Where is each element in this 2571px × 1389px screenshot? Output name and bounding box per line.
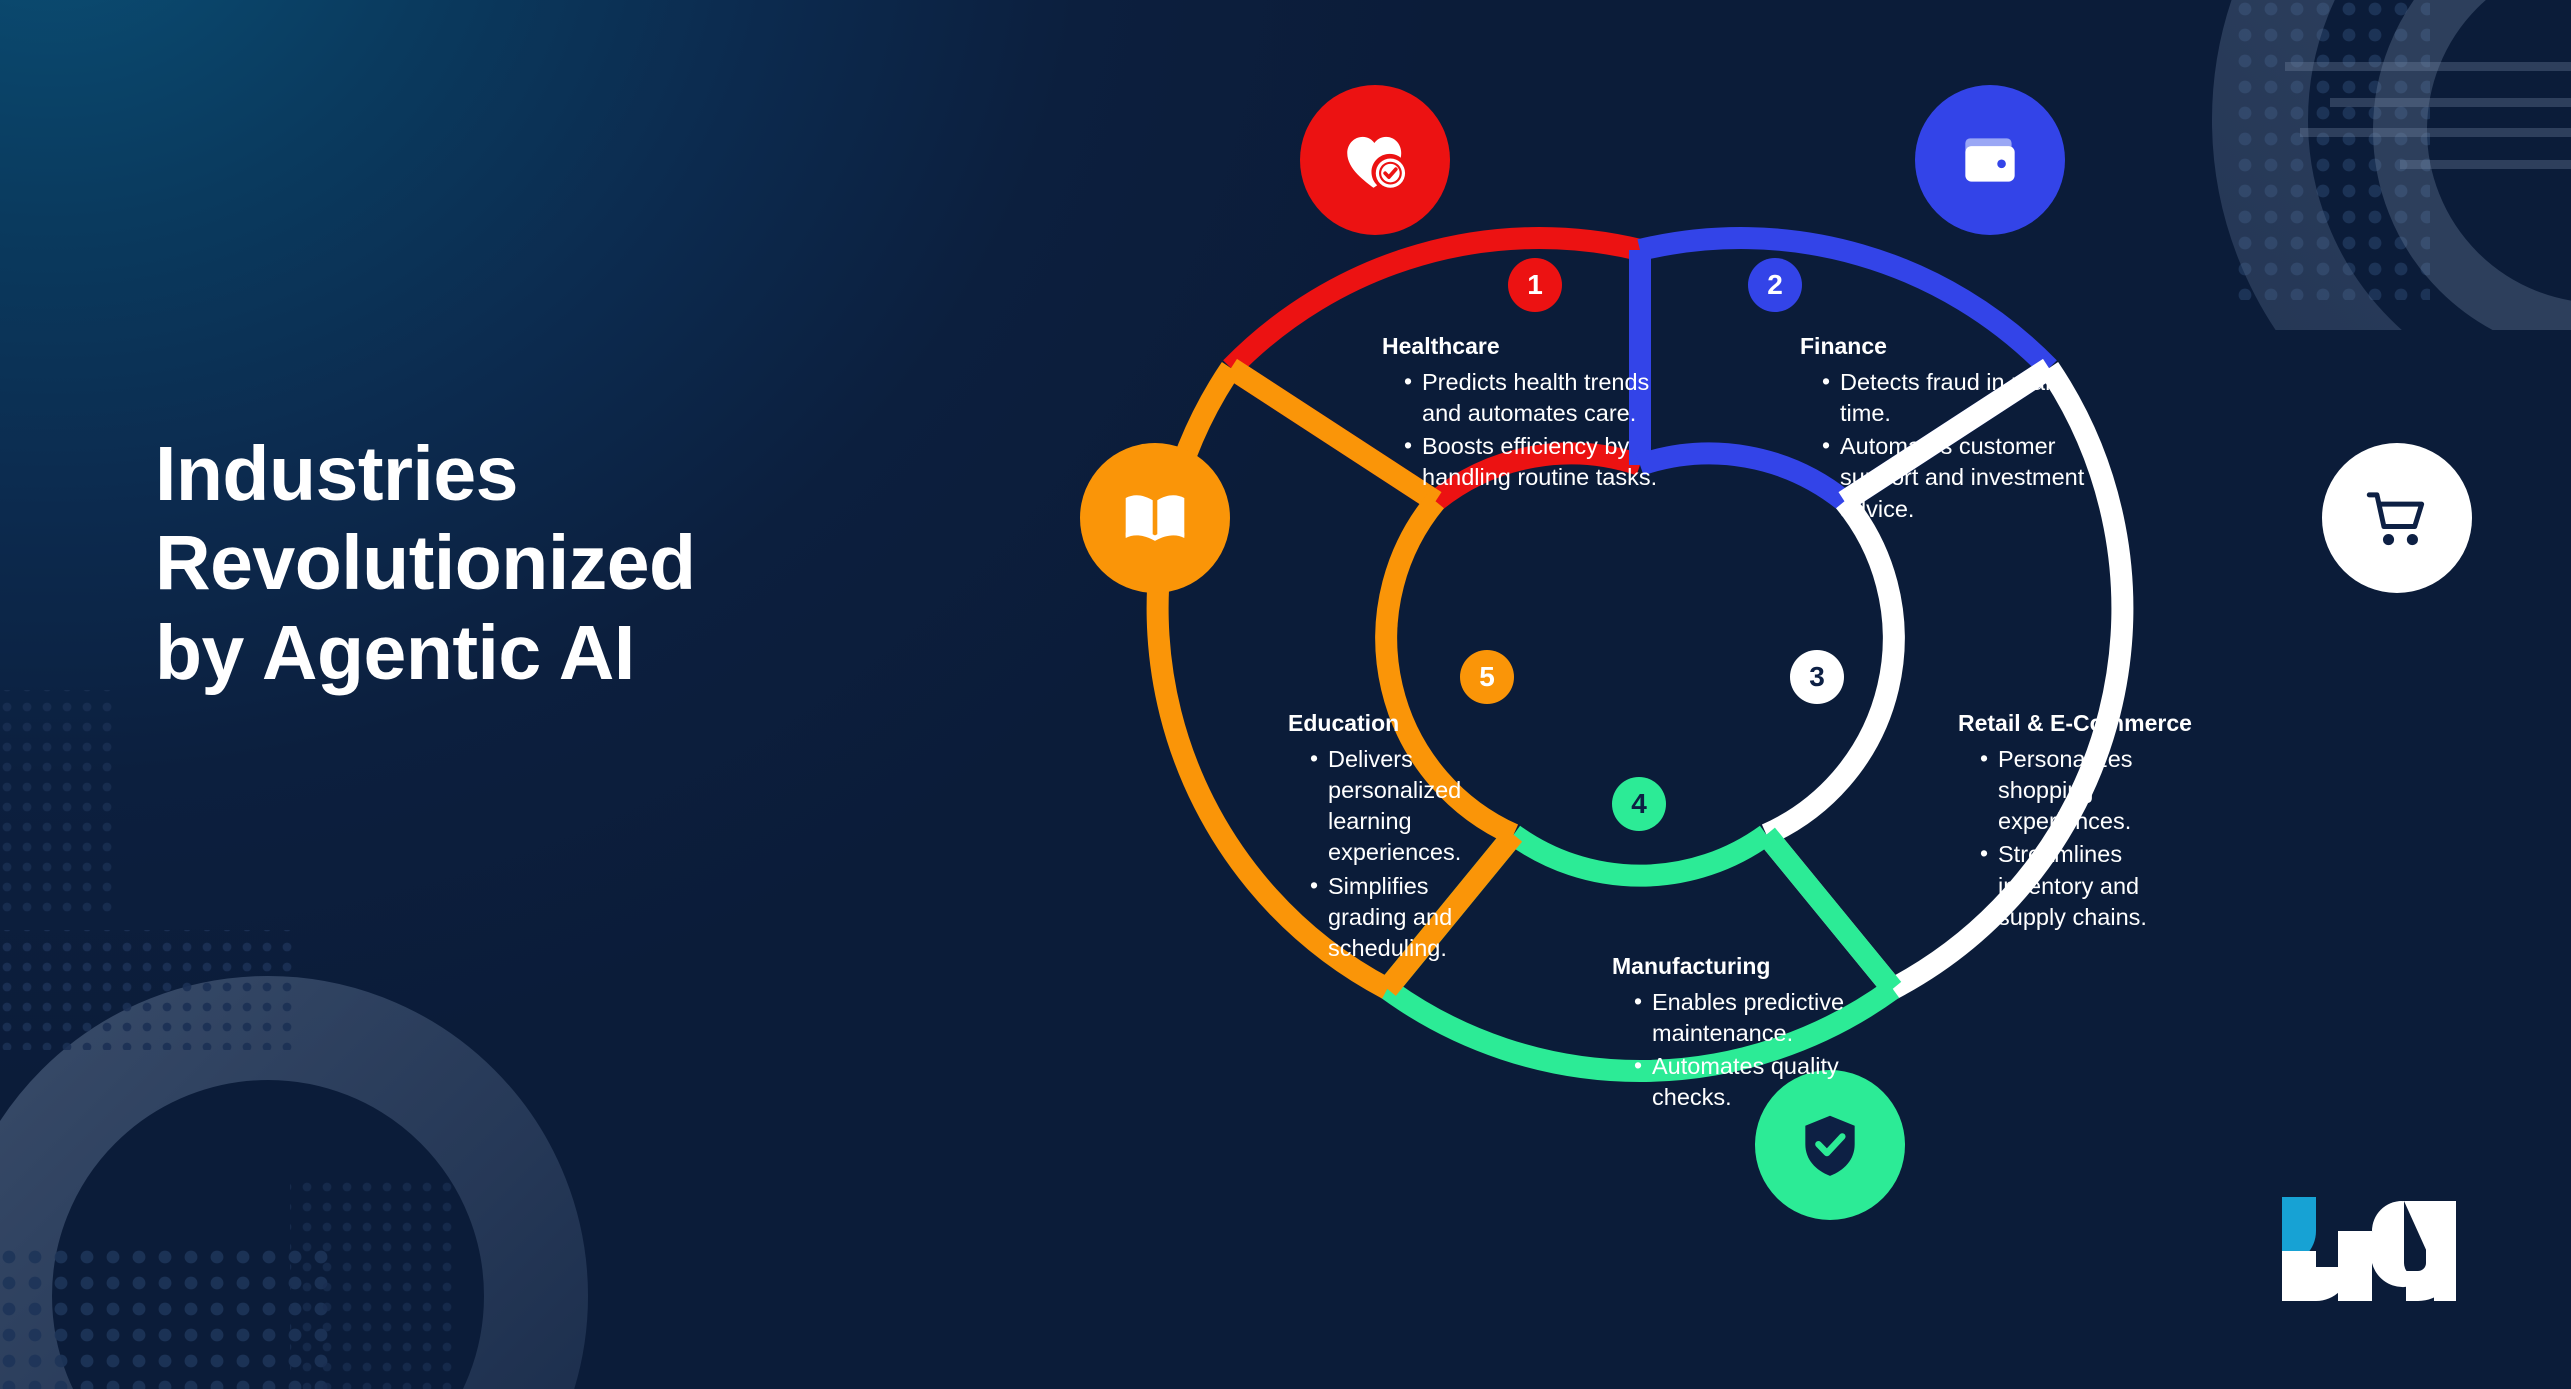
page-title: Industries Revolutionized by Agentic AI <box>155 430 1055 698</box>
dot-pattern-bottom-left <box>0 930 460 1389</box>
arc-bottom-left <box>0 1028 536 1389</box>
shopping-cart-icon <box>2360 481 2434 555</box>
segment-title-retail: Retail & E-Commerce <box>1958 710 2153 738</box>
segment-bullets-finance: Detects fraud in real-time. Automates cu… <box>1818 367 2100 525</box>
segment-text-retail: Retail & E-Commerce Personalizes shoppin… <box>1958 710 2153 935</box>
number-badge-5[interactable]: 5 <box>1460 650 1514 704</box>
segment-text-healthcare: Healthcare Predicts health trends and au… <box>1382 333 1682 496</box>
segment-title-healthcare: Healthcare <box>1382 333 1682 361</box>
icon-bubble-retail[interactable] <box>2322 443 2472 593</box>
wallet-icon <box>1953 123 2027 197</box>
segment-bullets-healthcare: Predicts health trends and automates car… <box>1400 367 1682 494</box>
heart-check-icon <box>1338 123 1412 197</box>
icon-bubble-finance[interactable] <box>1915 85 2065 235</box>
tru-logo-mark <box>2272 1189 2462 1309</box>
list-item: Streamlines inventory and supply chains. <box>1976 839 2153 933</box>
list-item: Delivers personalized learning experienc… <box>1306 744 1478 869</box>
number-badge-3-label: 3 <box>1809 661 1825 693</box>
icon-bubble-education[interactable] <box>1080 443 1230 593</box>
segment-bullets-manufacturing: Enables predictive maintenance. Automate… <box>1630 987 1872 1114</box>
segment-bullets-education: Delivers personalized learning experienc… <box>1306 744 1478 965</box>
number-badge-2[interactable]: 2 <box>1748 258 1802 312</box>
segment-text-manufacturing: Manufacturing Enables predictive mainten… <box>1612 953 1872 1116</box>
open-book-icon <box>1118 481 1192 555</box>
infographic-canvas: Industries Revolutionized by Agentic AI <box>0 0 2571 1389</box>
list-item: Enables predictive maintenance. <box>1630 987 1872 1050</box>
title-line-3: by Agentic AI <box>155 609 1055 698</box>
number-badge-1[interactable]: 1 <box>1508 258 1562 312</box>
shield-check-icon <box>1793 1108 1867 1182</box>
segment-title-finance: Finance <box>1800 333 2100 361</box>
list-item: Boosts efficiency by handling routine ta… <box>1400 431 1682 494</box>
number-badge-2-label: 2 <box>1767 269 1783 301</box>
number-badge-4-label: 4 <box>1631 788 1647 820</box>
list-item: Detects fraud in real-time. <box>1818 367 2100 430</box>
list-item: Automates customer support and investmen… <box>1818 431 2100 525</box>
segment-title-education: Education <box>1288 710 1478 738</box>
tru-logo <box>2272 1189 2462 1309</box>
segment-text-finance: Finance Detects fraud in real-time. Auto… <box>1800 333 2100 527</box>
number-badge-4[interactable]: 4 <box>1612 777 1666 831</box>
list-item: Automates quality checks. <box>1630 1051 1872 1114</box>
dot-pattern-left-edge <box>0 690 120 920</box>
list-item: Simplifies grading and scheduling. <box>1306 871 1478 965</box>
segment-text-education: Education Delivers personalized learning… <box>1288 710 1478 966</box>
number-badge-3[interactable]: 3 <box>1790 650 1844 704</box>
list-item: Personalizes shopping experiences. <box>1976 744 2153 838</box>
segment-title-manufacturing: Manufacturing <box>1612 953 1872 981</box>
number-badge-5-label: 5 <box>1479 661 1495 693</box>
title-line-1: Industries <box>155 430 1055 519</box>
segment-bullets-retail: Personalizes shopping experiences. Strea… <box>1976 744 2153 934</box>
title-line-2: Revolutionized <box>155 519 1055 608</box>
list-item: Predicts health trends and automates car… <box>1400 367 1682 430</box>
number-badge-1-label: 1 <box>1527 269 1543 301</box>
icon-bubble-healthcare[interactable] <box>1300 85 1450 235</box>
